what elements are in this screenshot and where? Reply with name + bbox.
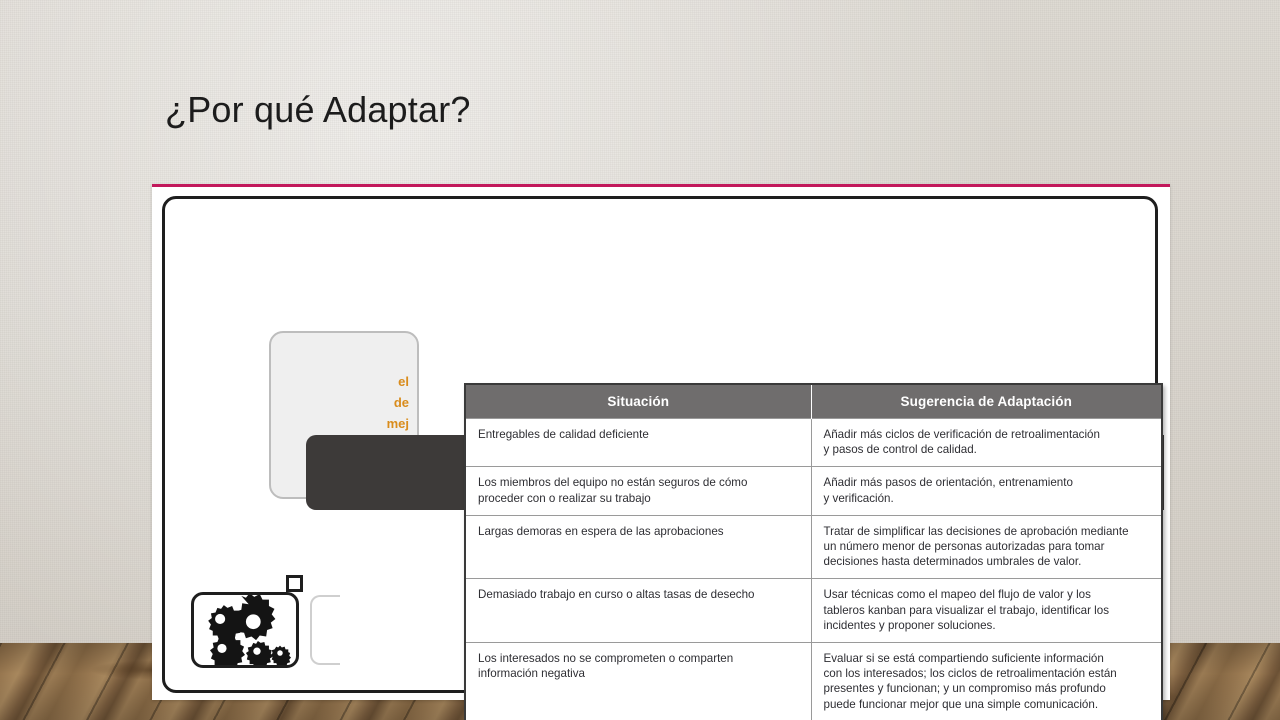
adaptation-table: Situación Sugerencia de Adaptación Entre… <box>464 383 1163 720</box>
cell-situacion: Entregables de calidad deficiente <box>465 419 811 467</box>
column-header-situacion: Situación <box>465 384 811 419</box>
table-row: Demasiado trabajo en curso o altas tasas… <box>465 579 1162 643</box>
slide: ¿Por qué Adaptar? el de mej a tar <box>0 0 1280 720</box>
cell-line: un número menor de personas autorizadas … <box>824 539 1152 554</box>
diagram-light-node-line-3: mej <box>387 413 409 434</box>
table-row: Los miembros del equipo no están seguros… <box>465 467 1162 515</box>
cell-line: Usar técnicas como el mapeo del flujo de… <box>824 587 1152 602</box>
column-header-sugerencia: Sugerencia de Adaptación <box>811 384 1162 419</box>
accent-rule <box>152 184 1170 187</box>
cell-line: tableros kanban para visualizar el traba… <box>824 603 1152 618</box>
cell-line: Los miembros del equipo no están seguros… <box>478 475 801 490</box>
gears-icon-glyph <box>194 595 296 665</box>
cell-situacion: Los interesados no se comprometen o comp… <box>465 643 811 720</box>
cell-sugerencia: Añadir más pasos de orientación, entrena… <box>811 467 1162 515</box>
diagram-right-stub <box>310 595 340 665</box>
cell-line: información negativa <box>478 666 801 681</box>
cell-line: Evaluar si se está compartiendo suficien… <box>824 651 1152 666</box>
table-row: Largas demoras en espera de las aprobaci… <box>465 515 1162 579</box>
cell-line: y verificación. <box>824 491 1152 506</box>
cell-sugerencia: Usar técnicas como el mapeo del flujo de… <box>811 579 1162 643</box>
content-frame: el de mej a tar <box>152 184 1170 700</box>
cell-situacion: Los miembros del equipo no están seguros… <box>465 467 811 515</box>
cell-line: Añadir más pasos de orientación, entrena… <box>824 475 1152 490</box>
diagram-light-node-line-2: de <box>387 392 409 413</box>
diagram-square-marker <box>286 575 303 592</box>
gears-icon <box>191 592 299 668</box>
cell-line: Demasiado trabajo en curso o altas tasas… <box>478 587 801 602</box>
cell-line: Añadir más ciclos de verificación de ret… <box>824 427 1152 442</box>
cell-line: incidentes y proponer soluciones. <box>824 618 1152 633</box>
cell-situacion: Demasiado trabajo en curso o altas tasas… <box>465 579 811 643</box>
cell-sugerencia: Evaluar si se está compartiendo suficien… <box>811 643 1162 720</box>
cell-sugerencia: Tratar de simplificar las decisiones de … <box>811 515 1162 579</box>
page-title: ¿Por qué Adaptar? <box>165 88 471 132</box>
cell-sugerencia: Añadir más ciclos de verificación de ret… <box>811 419 1162 467</box>
cell-line: Tratar de simplificar las decisiones de … <box>824 524 1152 539</box>
cell-line: Entregables de calidad deficiente <box>478 427 801 442</box>
table-body: Entregables de calidad deficienteAñadir … <box>465 419 1162 720</box>
cell-line: Largas demoras en espera de las aprobaci… <box>478 524 801 539</box>
cell-line: presentes y funcionan; y un compromiso m… <box>824 681 1152 696</box>
cell-line: con los interesados; los ciclos de retro… <box>824 666 1152 681</box>
cell-line: decisiones hasta determinados umbrales d… <box>824 554 1152 569</box>
table-row: Entregables de calidad deficienteAñadir … <box>465 419 1162 467</box>
diagram-light-node-line-1: el <box>387 371 409 392</box>
cell-line: y pasos de control de calidad. <box>824 442 1152 457</box>
cell-line: Los interesados no se comprometen o comp… <box>478 651 801 666</box>
cell-line: proceder con o realizar su trabajo <box>478 491 801 506</box>
cell-situacion: Largas demoras en espera de las aprobaci… <box>465 515 811 579</box>
cell-line: puede funcionar mejor que una simple com… <box>824 697 1152 712</box>
table-row: Los interesados no se comprometen o comp… <box>465 643 1162 720</box>
table-header-row: Situación Sugerencia de Adaptación <box>465 384 1162 419</box>
